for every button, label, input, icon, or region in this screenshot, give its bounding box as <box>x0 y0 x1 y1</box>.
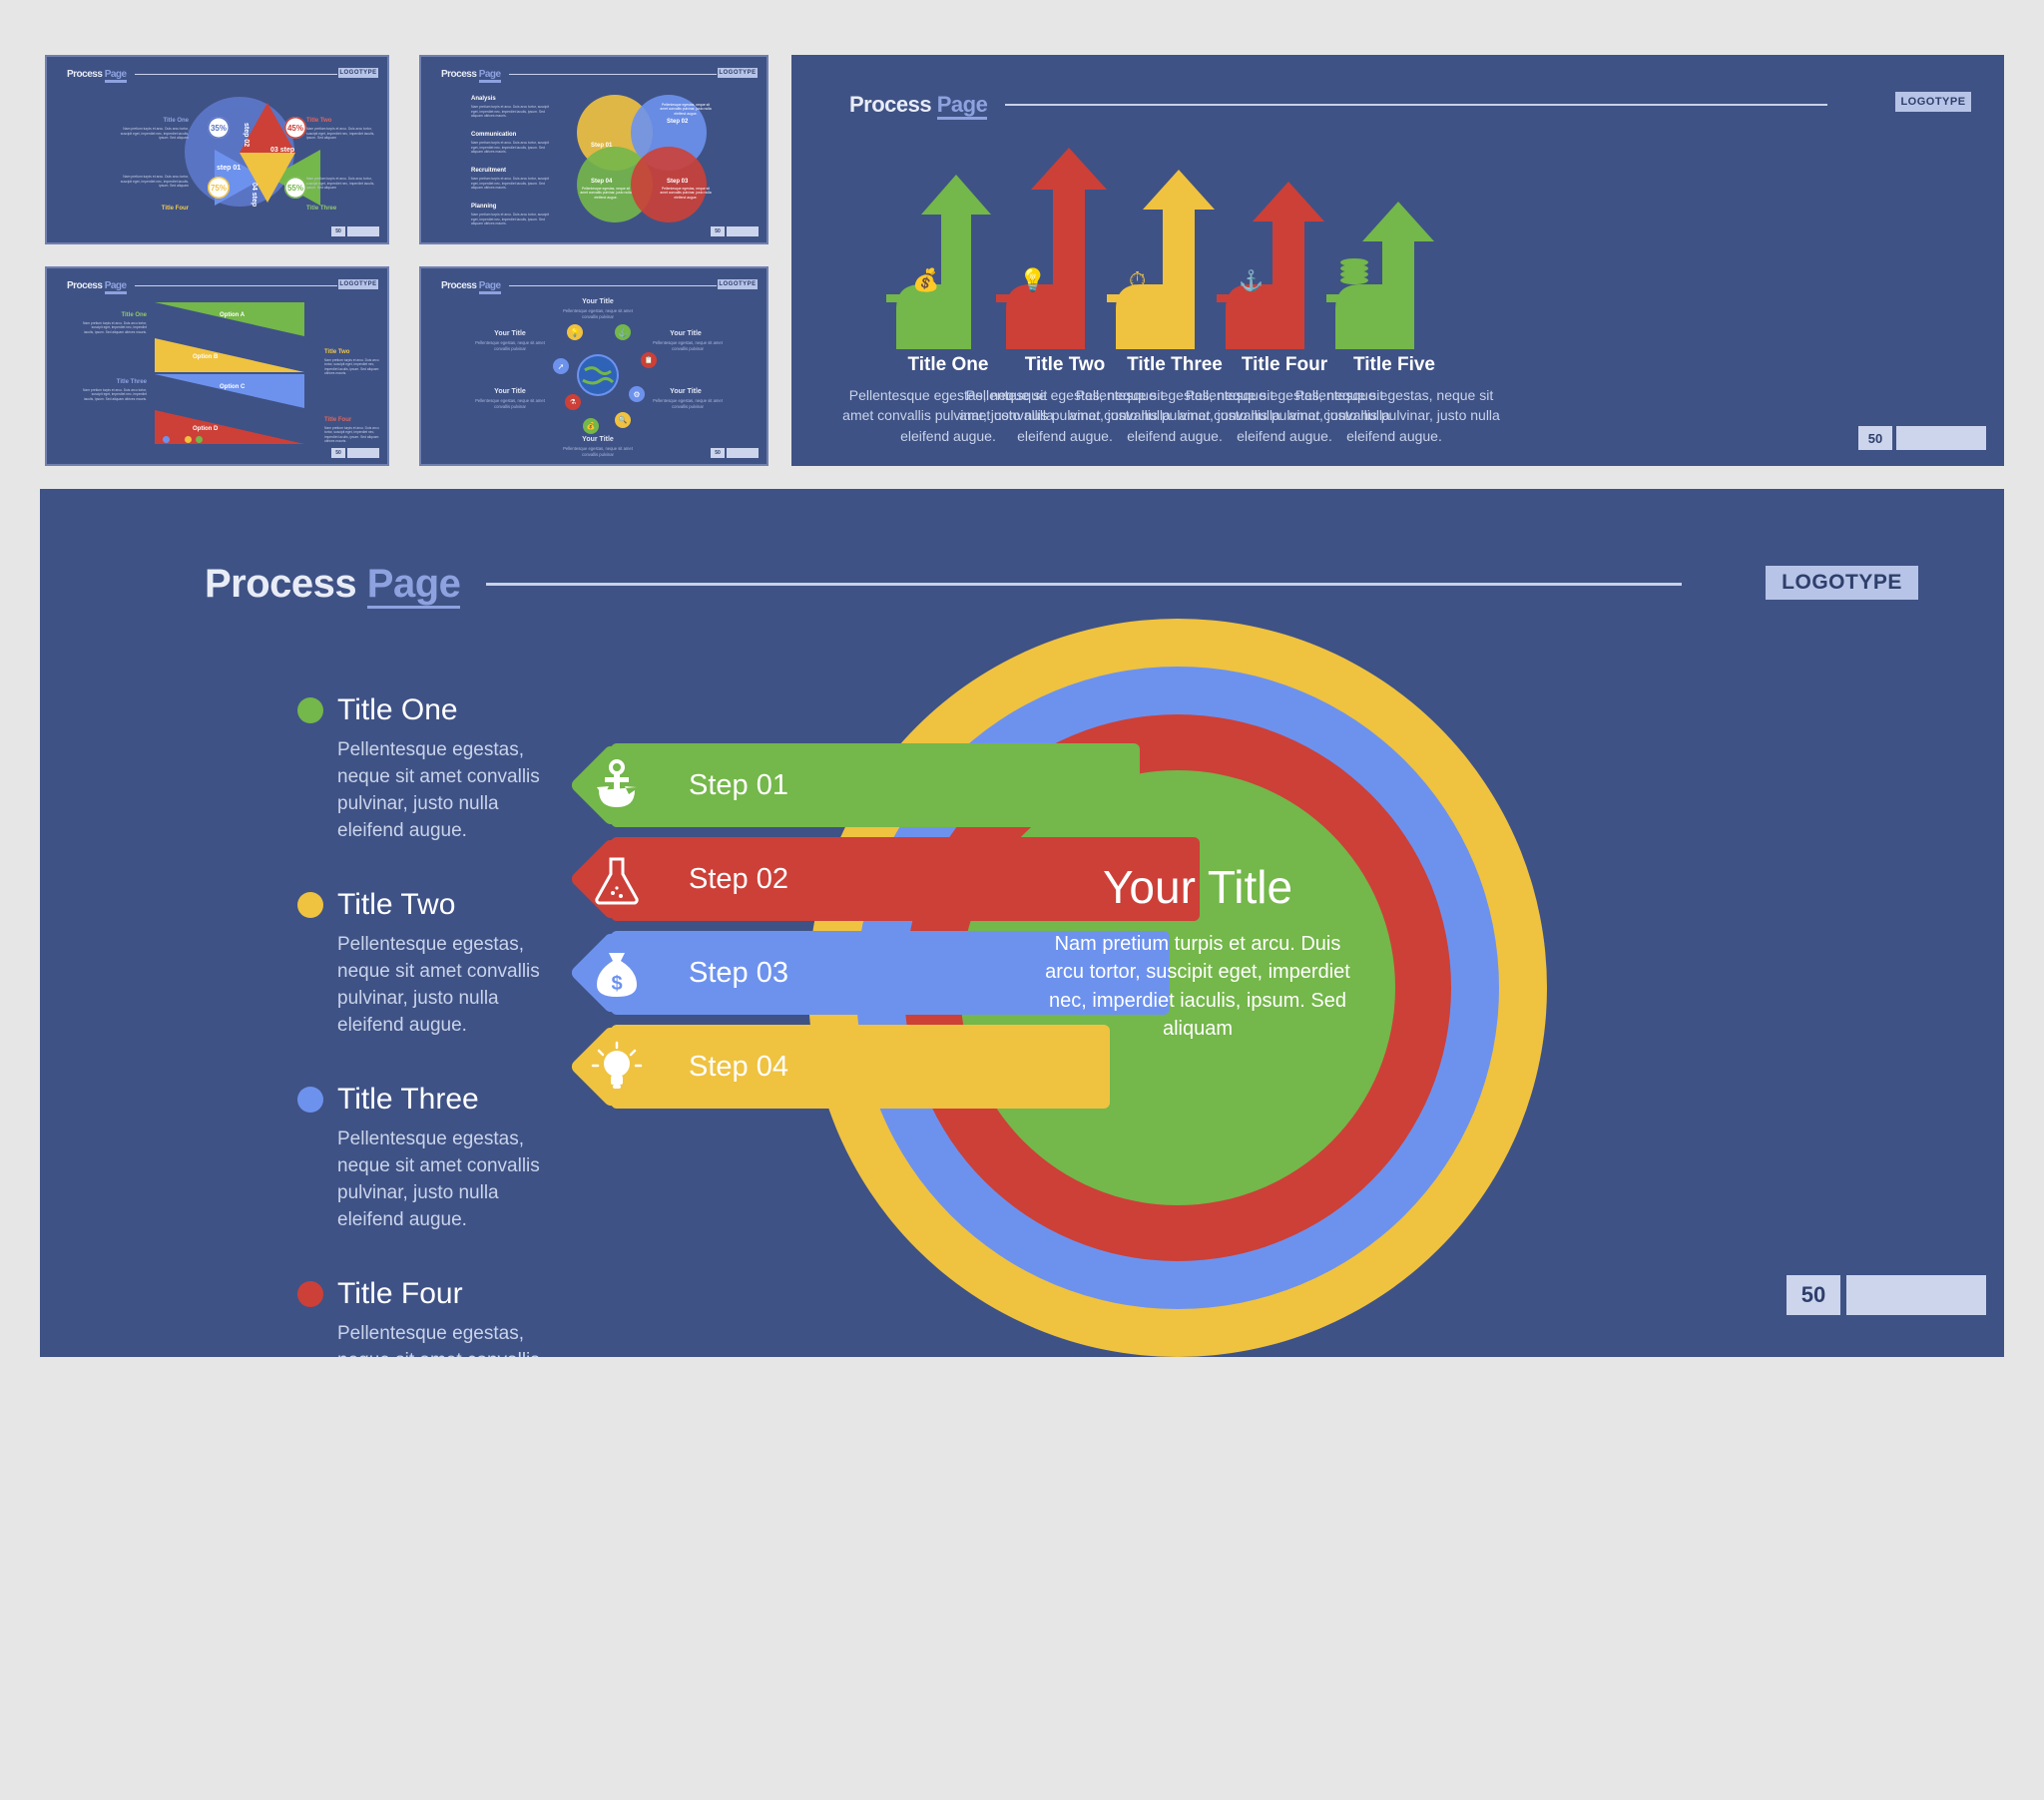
thumb1-badge-2: 45% <box>284 117 306 139</box>
center-title: Your Title <box>1038 860 1357 914</box>
thumb2-header-rule <box>509 74 746 75</box>
thumb1-step-03: 03 step <box>270 147 294 154</box>
legend-desc-4: Pellentesque egestas, neque sit amet con… <box>297 1321 557 1357</box>
svg-text:⚓: ⚓ <box>1239 268 1264 292</box>
thumb2-page-number: 50 <box>711 226 725 236</box>
thumb3-desc-1: Nam pretium turpis et arcu. Duis arcu to… <box>81 321 147 334</box>
thumb1-badge-1: 35% <box>208 117 230 139</box>
thumb2-step-desc-03: Pellentesque egestas, neque sit amet con… <box>659 187 713 200</box>
legend-desc-3: Pellentesque egestas, neque sit amet con… <box>297 1126 557 1234</box>
thumb2-step-desc-02: Pellentesque egestas, neque sit amet con… <box>659 103 713 116</box>
thumb4-clipboard-icon[interactable]: 📋 <box>641 352 657 368</box>
thumb4-title-left-1: Your Title <box>481 330 539 337</box>
arrow-title-5: Title Five <box>1285 354 1503 376</box>
thumb3-triangle-a[interactable] <box>155 302 304 336</box>
main-page-bar <box>1846 1275 1986 1315</box>
thumb3-triangle-b[interactable] <box>155 338 304 372</box>
thumb4-title-right-1: Your Title <box>657 330 715 337</box>
thumb1-step-01: step 01 <box>217 165 241 172</box>
thumb3-option-a: Option A <box>220 312 245 318</box>
arrow-process-slide[interactable]: Process Page LOGOTYPE 💰 💡 <box>791 55 2004 466</box>
thumb3-page-bar <box>347 448 379 458</box>
thumb4-compass-icon[interactable]: ➚ <box>553 358 569 374</box>
globe-shape-icon <box>577 354 619 396</box>
thumb3-title-word2: Page <box>105 280 127 294</box>
legend-dot-green <box>297 697 323 723</box>
arrow-column-1: 💰 <box>886 175 991 349</box>
thumb2-step-04: Step 04 <box>591 179 612 185</box>
thumb3-title-2: Title Two <box>324 348 386 356</box>
legend-title-3: Title Three <box>337 1083 479 1117</box>
step-arrow-1[interactable]: Step 01 <box>569 743 1188 827</box>
thumb4-desc-left-1: Pellentesque egestas, neque sit amet con… <box>473 340 547 351</box>
thumb2-desc-1: Nam pretium turpis et arcu. Duis arcu to… <box>471 105 557 119</box>
legend-desc-1: Pellentesque egestas, neque sit amet con… <box>297 737 557 845</box>
thumb4-page-number: 50 <box>711 448 725 458</box>
thumb3-option-d: Option D <box>193 426 218 432</box>
thumb4-title-left-2: Your Title <box>481 388 539 395</box>
main-title-word1: Process <box>205 562 356 606</box>
step-label-1: Step 01 <box>689 743 788 827</box>
thumb4-title-right-2: Your Title <box>657 388 715 395</box>
arrowslide-page-number: 50 <box>1858 426 1892 450</box>
thumb4-desc-top: Pellentesque egestas, neque sit amet con… <box>561 308 635 319</box>
svg-text:$: $ <box>611 973 622 995</box>
thumb1-label-desc-3: Nam pretium turpis et arcu. Duis arcu to… <box>306 177 380 191</box>
thumb4-logotype: LOGOTYPE <box>717 278 759 290</box>
thumb1-label-desc-2: Nam pretium turpis et arcu. Duis arcu to… <box>306 127 380 141</box>
thumb4-title-word2: Page <box>479 280 501 294</box>
thumb1-title-word2: Page <box>105 69 127 83</box>
thumb2-step-desc-04: Pellentesque egestas, neque sit amet con… <box>579 187 633 200</box>
thumbnail-venn-slide[interactable]: Process Page LOGOTYPE Analysis Nam preti… <box>419 55 768 244</box>
legend-dot-blue <box>297 1087 323 1113</box>
thumb4-search-icon[interactable]: 🔍 <box>615 412 631 428</box>
main-page-number: 50 <box>1787 1275 1840 1315</box>
money-bag-icon: $ <box>589 945 645 1001</box>
arrow-desc-5: Pellentesque egestas, neque sit amet con… <box>1285 385 1503 446</box>
thumb1-header-rule <box>135 74 366 75</box>
legend-item-2[interactable]: Title Two Pellentesque egestas, neque si… <box>297 888 557 1040</box>
thumb2-heading-1: Analysis <box>471 95 496 103</box>
thumb1-label-title-3: Title Three <box>306 205 380 213</box>
thumb2-desc-3: Nam pretium turpis et arcu. Duis arcu to… <box>471 177 557 191</box>
legend-title-4: Title Four <box>337 1277 463 1311</box>
thumbnail-globe-slide[interactable]: Process Page LOGOTYPE 💡 ⚓ 📋 ➚ ⚙ ⚗ 🔍 💰 Yo… <box>419 266 768 466</box>
thumb1-step-02: step 02 <box>243 123 250 147</box>
thumb2-desc-4: Nam pretium turpis et arcu. Duis arcu to… <box>471 213 557 226</box>
globe-icon <box>577 354 619 396</box>
thumb3-desc-4: Nam pretium turpis et arcu. Duis arcu to… <box>324 426 386 444</box>
thumb4-money-bag-icon[interactable]: 💰 <box>583 418 599 434</box>
thumb2-step-03: Step 03 <box>667 179 688 185</box>
thumb2-heading-4: Planning <box>471 203 496 211</box>
thumb2-title-word1: Process <box>441 69 476 80</box>
legend-title-2: Title Two <box>337 888 455 922</box>
arrow-column-5 <box>1326 202 1434 349</box>
svg-text:💡: 💡 <box>1019 267 1046 292</box>
thumb1-page-bar <box>347 226 379 236</box>
thumb4-lightbulb-icon[interactable]: 💡 <box>567 324 583 340</box>
thumb2-heading-2: Communication <box>471 131 516 139</box>
thumb3-page-number: 50 <box>331 448 345 458</box>
thumb4-header-rule <box>509 285 746 286</box>
thumb1-badge-4: 75% <box>208 177 230 199</box>
thumb1-label-title-1: Title One <box>117 117 189 125</box>
svg-text:💰: 💰 <box>912 267 939 293</box>
thumb1-label-desc-4: Nam pretium turpis et arcu. Duis arcu to… <box>115 175 189 189</box>
thumbnail-triangles-slide[interactable]: Process Page LOGOTYPE Option A Option B … <box>45 266 389 466</box>
main-process-slide[interactable]: Process Page LOGOTYPE <box>40 489 2004 1357</box>
thumb3-color-dots <box>163 436 203 443</box>
thumb1-title-word1: Process <box>67 69 102 80</box>
arrowslide-page-bar <box>1896 426 1986 450</box>
thumb2-venn-red[interactable] <box>631 147 707 223</box>
main-header-rule <box>486 583 1682 586</box>
thumb3-desc-2: Nam pretium turpis et arcu. Duis arcu to… <box>324 358 386 376</box>
thumb1-label-title-4: Title Four <box>117 205 189 213</box>
thumb2-logotype: LOGOTYPE <box>717 67 759 79</box>
thumb3-triangle-c[interactable] <box>155 374 304 408</box>
thumb1-badge-3: 55% <box>284 177 306 199</box>
thumb3-option-b: Option B <box>193 354 218 360</box>
thumb4-anchor-icon[interactable]: ⚓ <box>615 324 631 340</box>
arrow-column-4: ⚓ <box>1217 182 1324 349</box>
thumb4-title-bottom: Your Title <box>569 436 627 443</box>
thumb3-title-3: Title Three <box>85 378 147 386</box>
legend-dot-red <box>297 1281 323 1307</box>
thumb1-logotype: LOGOTYPE <box>337 67 379 79</box>
legend-list: Title One Pellentesque egestas, neque si… <box>297 693 557 1357</box>
thumb4-desc-left-2: Pellentesque egestas, neque sit amet con… <box>473 398 547 409</box>
svg-text:⏱: ⏱ <box>1129 267 1146 292</box>
thumb3-title-1: Title One <box>85 311 147 319</box>
arrow-column-3: ⏱ <box>1107 170 1215 349</box>
thumb2-page-bar <box>727 226 759 236</box>
main-logotype: LOGOTYPE <box>1765 565 1919 601</box>
thumb3-title-word1: Process <box>67 280 102 291</box>
thumb4-desc-bottom: Pellentesque egestas, neque sit amet con… <box>561 446 635 457</box>
legend-dot-yellow <box>297 892 323 918</box>
step-label-2: Step 02 <box>689 837 788 921</box>
step-label-3: Step 03 <box>689 931 788 1015</box>
thumb3-desc-3: Nam pretium turpis et arcu. Duis arcu to… <box>81 388 147 401</box>
legend-item-1[interactable]: Title One Pellentesque egestas, neque si… <box>297 693 557 845</box>
main-title-word2: Page <box>367 562 461 609</box>
thumb2-step-01: Step 01 <box>591 143 612 149</box>
thumb4-gear-icon[interactable]: ⚙ <box>629 386 645 402</box>
thumb3-option-c: Option C <box>220 384 245 390</box>
arrow-caption-5: Title Five Pellentesque egestas, neque s… <box>1285 354 1503 446</box>
thumb1-step-04: 04 step <box>251 183 257 207</box>
flask-icon <box>589 851 645 907</box>
thumb1-label-desc-1: Nam pretium turpis et arcu. Duis arcu to… <box>115 127 189 141</box>
thumb3-title-4: Title Four <box>324 416 386 424</box>
thumb2-step-02: Step 02 <box>667 119 688 125</box>
thumbnail-diamond-slide[interactable]: Process Page LOGOTYPE step 02 step 01 03… <box>45 55 389 244</box>
legend-item-4[interactable]: Title Four Pellentesque egestas, neque s… <box>297 1277 557 1357</box>
center-desc: Nam pretium turpis et arcu. Duis arcu to… <box>1038 930 1357 1044</box>
step-label-4: Step 04 <box>689 1025 788 1109</box>
thumb4-title-top: Your Title <box>569 298 627 305</box>
coins-icon <box>1340 258 1368 284</box>
thumb4-desc-right-2: Pellentesque egestas, neque sit amet con… <box>651 398 725 409</box>
thumb1-page-number: 50 <box>331 226 345 236</box>
slide-deck-canvas: Process Page LOGOTYPE step 02 step 01 03… <box>0 0 2044 1800</box>
thumb4-page-bar <box>727 448 759 458</box>
center-caption: Your Title Nam pretium turpis et arcu. D… <box>1038 860 1357 1044</box>
lightbulb-icon <box>589 1039 645 1095</box>
legend-item-3[interactable]: Title Three Pellentesque egestas, neque … <box>297 1083 557 1234</box>
thumb4-flask-icon[interactable]: ⚗ <box>565 394 581 410</box>
legend-title-1: Title One <box>337 693 458 727</box>
thumb2-title-word2: Page <box>479 69 501 83</box>
thumb3-header-rule <box>135 285 366 286</box>
arrow-column-2: 💡 <box>996 148 1107 349</box>
thumb2-heading-3: Recruitment <box>471 167 506 175</box>
thumb1-label-title-2: Title Two <box>306 117 380 125</box>
legend-desc-2: Pellentesque egestas, neque sit amet con… <box>297 932 557 1040</box>
thumb4-title-word1: Process <box>441 280 476 291</box>
thumb3-logotype: LOGOTYPE <box>337 278 379 290</box>
anchor-icon <box>589 757 645 813</box>
thumb2-desc-2: Nam pretium turpis et arcu. Duis arcu to… <box>471 141 557 155</box>
thumb4-desc-right-1: Pellentesque egestas, neque sit amet con… <box>651 340 725 351</box>
